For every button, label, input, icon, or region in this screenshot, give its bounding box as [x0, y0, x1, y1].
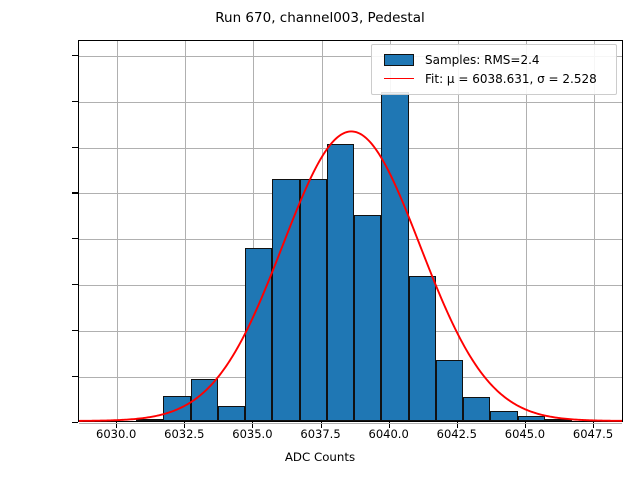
- legend: Samples: RMS=2.4 Fit: μ = 6038.631, σ = …: [371, 44, 617, 95]
- legend-entry-samples: Samples: RMS=2.4: [379, 50, 609, 69]
- plot-area: [78, 40, 623, 422]
- x-axis-tick-label: 6035.0: [232, 427, 272, 441]
- gaussian-fit-path: [79, 131, 622, 420]
- x-axis-tick-label: 6030.0: [96, 427, 136, 441]
- x-axis-tick-label: 6040.0: [369, 427, 409, 441]
- legend-label-samples: Samples: RMS=2.4: [419, 53, 540, 67]
- x-axis-tick-label: 6032.5: [164, 427, 204, 441]
- x-axis-tick-label: 6047.5: [573, 427, 613, 441]
- legend-swatch-samples: [379, 54, 419, 66]
- x-axis-label: ADC Counts: [0, 450, 640, 464]
- y-axis-tick-mark: [72, 422, 78, 423]
- x-axis-tick-label: 6042.5: [437, 427, 477, 441]
- chart-title: Run 670, channel003, Pedestal: [0, 10, 640, 26]
- y-axis-label: Entries: [0, 217, 1, 258]
- legend-label-fit: Fit: μ = 6038.631, σ = 2.528: [419, 72, 597, 86]
- fit-curve: [79, 41, 622, 421]
- figure: Run 670, channel003, Pedestal Entries AD…: [0, 0, 640, 480]
- gridline-horizontal: [79, 423, 622, 424]
- x-axis-tick-label: 6045.0: [505, 427, 545, 441]
- bar-swatch-icon: [384, 54, 414, 66]
- legend-swatch-fit: [379, 78, 419, 79]
- x-axis-tick-label: 6037.5: [300, 427, 340, 441]
- legend-entry-fit: Fit: μ = 6038.631, σ = 2.528: [379, 69, 609, 88]
- line-swatch-icon: [384, 78, 414, 79]
